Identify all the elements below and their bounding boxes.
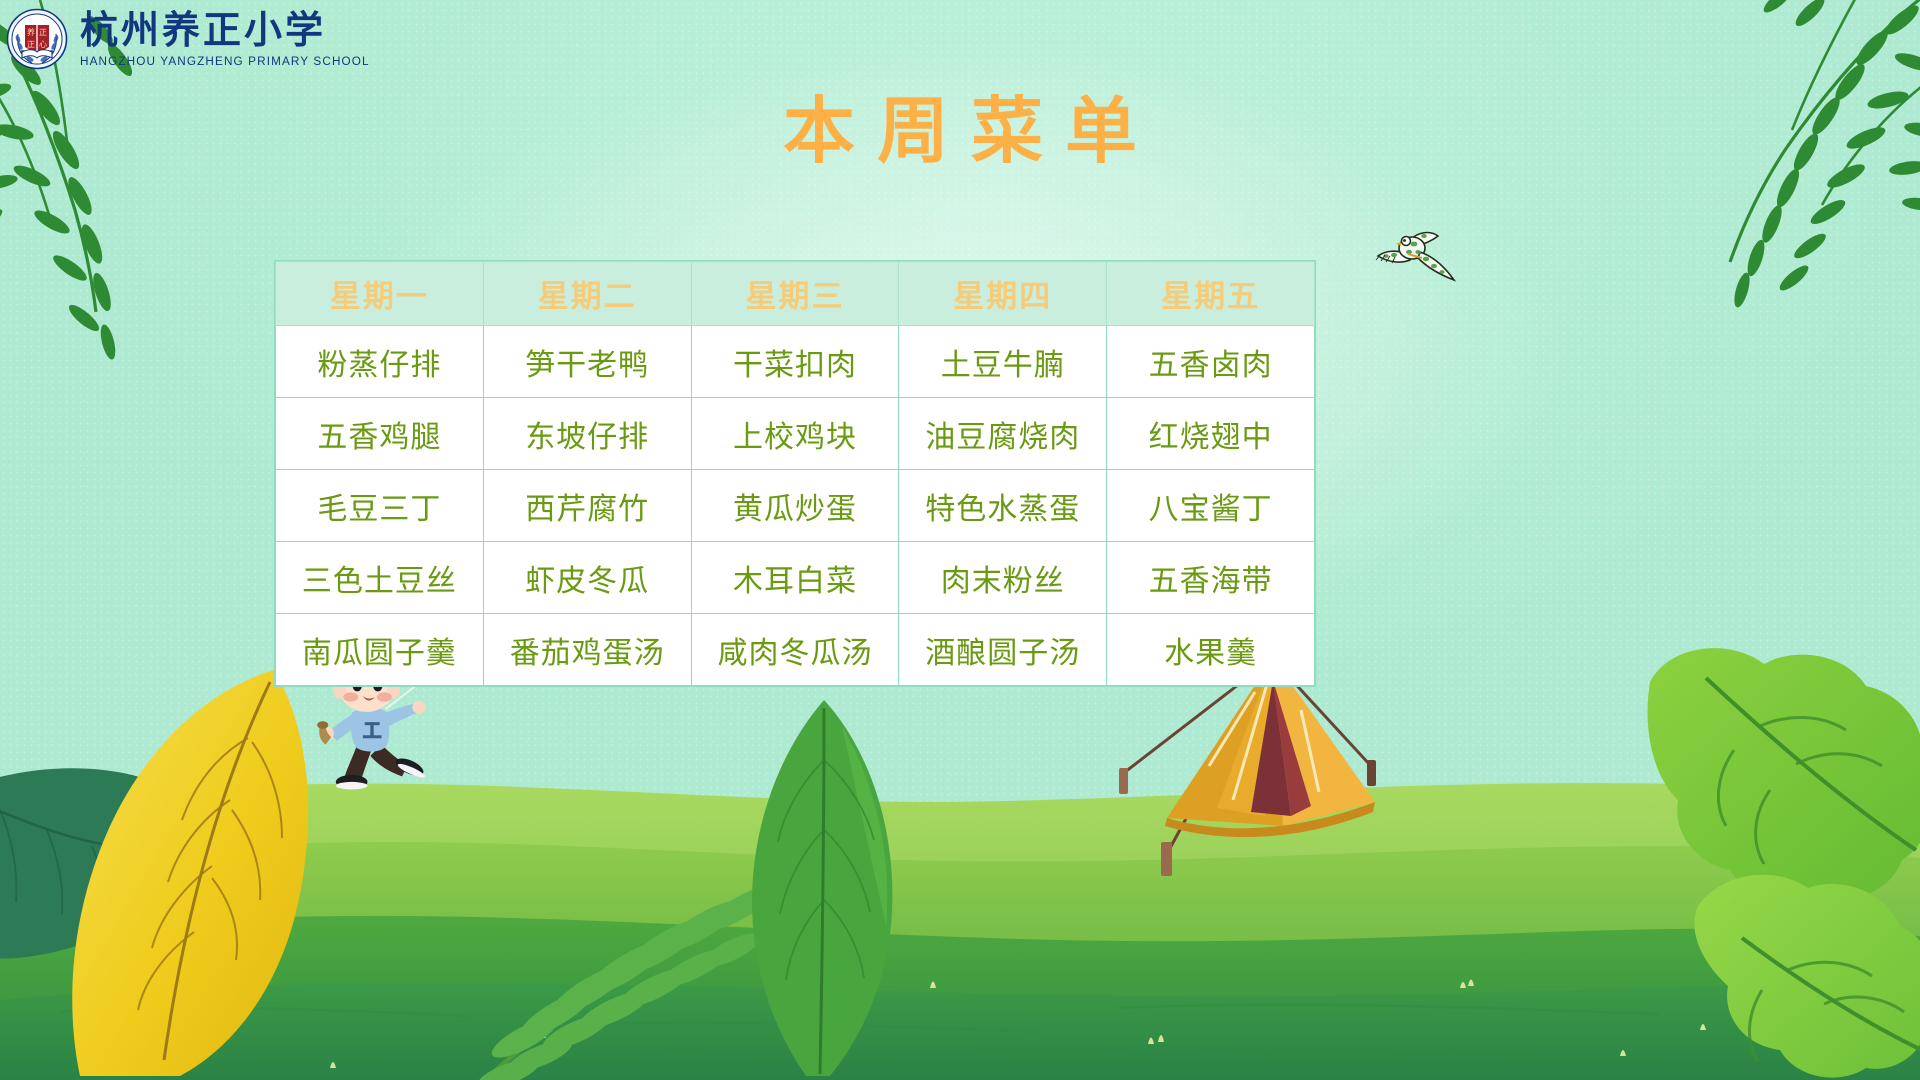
menu-cell: 五香海带 bbox=[1107, 542, 1315, 614]
table-header-row: 星期一 星期二 星期三 星期四 星期五 bbox=[276, 262, 1315, 326]
column-header-wednesday: 星期三 bbox=[691, 262, 899, 326]
menu-cell: 肉末粉丝 bbox=[899, 542, 1107, 614]
menu-cell: 三色土豆丝 bbox=[276, 542, 484, 614]
menu-cell: 虾皮冬瓜 bbox=[483, 542, 691, 614]
school-logo-block: 养正 正心 杭州养正小学 HANGZHOU YANGZHENG PRIMARY … bbox=[6, 8, 364, 70]
menu-cell: 咸肉冬瓜汤 bbox=[691, 614, 899, 686]
menu-cell: 土豆牛腩 bbox=[899, 326, 1107, 398]
menu-cell: 酒酿圆子汤 bbox=[899, 614, 1107, 686]
big-green-leaf-icon bbox=[1610, 638, 1920, 1080]
school-name-en: HANGZHOU YANGZHENG PRIMARY SCHOOL bbox=[80, 56, 370, 68]
school-crest-icon: 养正 正心 bbox=[6, 8, 68, 70]
column-header-tuesday: 星期二 bbox=[483, 262, 691, 326]
menu-cell: 五香卤肉 bbox=[1107, 326, 1315, 398]
column-header-monday: 星期一 bbox=[276, 262, 484, 326]
menu-cell: 油豆腐烧肉 bbox=[899, 398, 1107, 470]
svg-text:正: 正 bbox=[39, 28, 47, 37]
table-row: 五香鸡腿 东坡仔排 上校鸡块 油豆腐烧肉 红烧翅中 bbox=[276, 398, 1315, 470]
svg-text:正: 正 bbox=[27, 40, 35, 49]
table-row: 粉蒸仔排 笋干老鸭 干菜扣肉 土豆牛腩 五香卤肉 bbox=[276, 326, 1315, 398]
menu-cell: 黄瓜炒蛋 bbox=[691, 470, 899, 542]
table-row: 毛豆三丁 西芹腐竹 黄瓜炒蛋 特色水蒸蛋 八宝酱丁 bbox=[276, 470, 1315, 542]
column-header-thursday: 星期四 bbox=[899, 262, 1107, 326]
big-green-leaf-icon bbox=[720, 690, 940, 1080]
page-title: 本周菜单 bbox=[0, 96, 1920, 168]
menu-cell: 东坡仔排 bbox=[483, 398, 691, 470]
weekly-menu-table: 星期一 星期二 星期三 星期四 星期五 粉蒸仔排 笋干老鸭 干菜扣肉 土豆牛腩 … bbox=[275, 261, 1315, 686]
menu-cell: 粉蒸仔排 bbox=[276, 326, 484, 398]
menu-cell: 毛豆三丁 bbox=[276, 470, 484, 542]
table-row: 三色土豆丝 虾皮冬瓜 木耳白菜 肉末粉丝 五香海带 bbox=[276, 542, 1315, 614]
school-name-cn: 杭州养正小学 bbox=[80, 12, 364, 52]
menu-cell: 南瓜圆子羹 bbox=[276, 614, 484, 686]
menu-cell: 红烧翅中 bbox=[1107, 398, 1315, 470]
menu-cell: 特色水蒸蛋 bbox=[899, 470, 1107, 542]
menu-cell: 木耳白菜 bbox=[691, 542, 899, 614]
menu-cell: 上校鸡块 bbox=[691, 398, 899, 470]
flying-bird-icon bbox=[1368, 222, 1466, 284]
menu-cell: 五香鸡腿 bbox=[276, 398, 484, 470]
menu-cell: 笋干老鸭 bbox=[483, 326, 691, 398]
menu-cell: 干菜扣肉 bbox=[691, 326, 899, 398]
menu-cell: 番茄鸡蛋汤 bbox=[483, 614, 691, 686]
poster-canvas: 养正 正心 杭州养正小学 HANGZHOU YANGZHENG PRIMARY … bbox=[0, 0, 1920, 1080]
table-row: 南瓜圆子羹 番茄鸡蛋汤 咸肉冬瓜汤 酒酿圆子汤 水果羹 bbox=[276, 614, 1315, 686]
menu-cell: 八宝酱丁 bbox=[1107, 470, 1315, 542]
svg-text:养: 养 bbox=[27, 27, 35, 37]
menu-cell: 西芹腐竹 bbox=[483, 470, 691, 542]
menu-cell: 水果羹 bbox=[1107, 614, 1315, 686]
column-header-friday: 星期五 bbox=[1107, 262, 1315, 326]
svg-text:心: 心 bbox=[39, 40, 47, 49]
